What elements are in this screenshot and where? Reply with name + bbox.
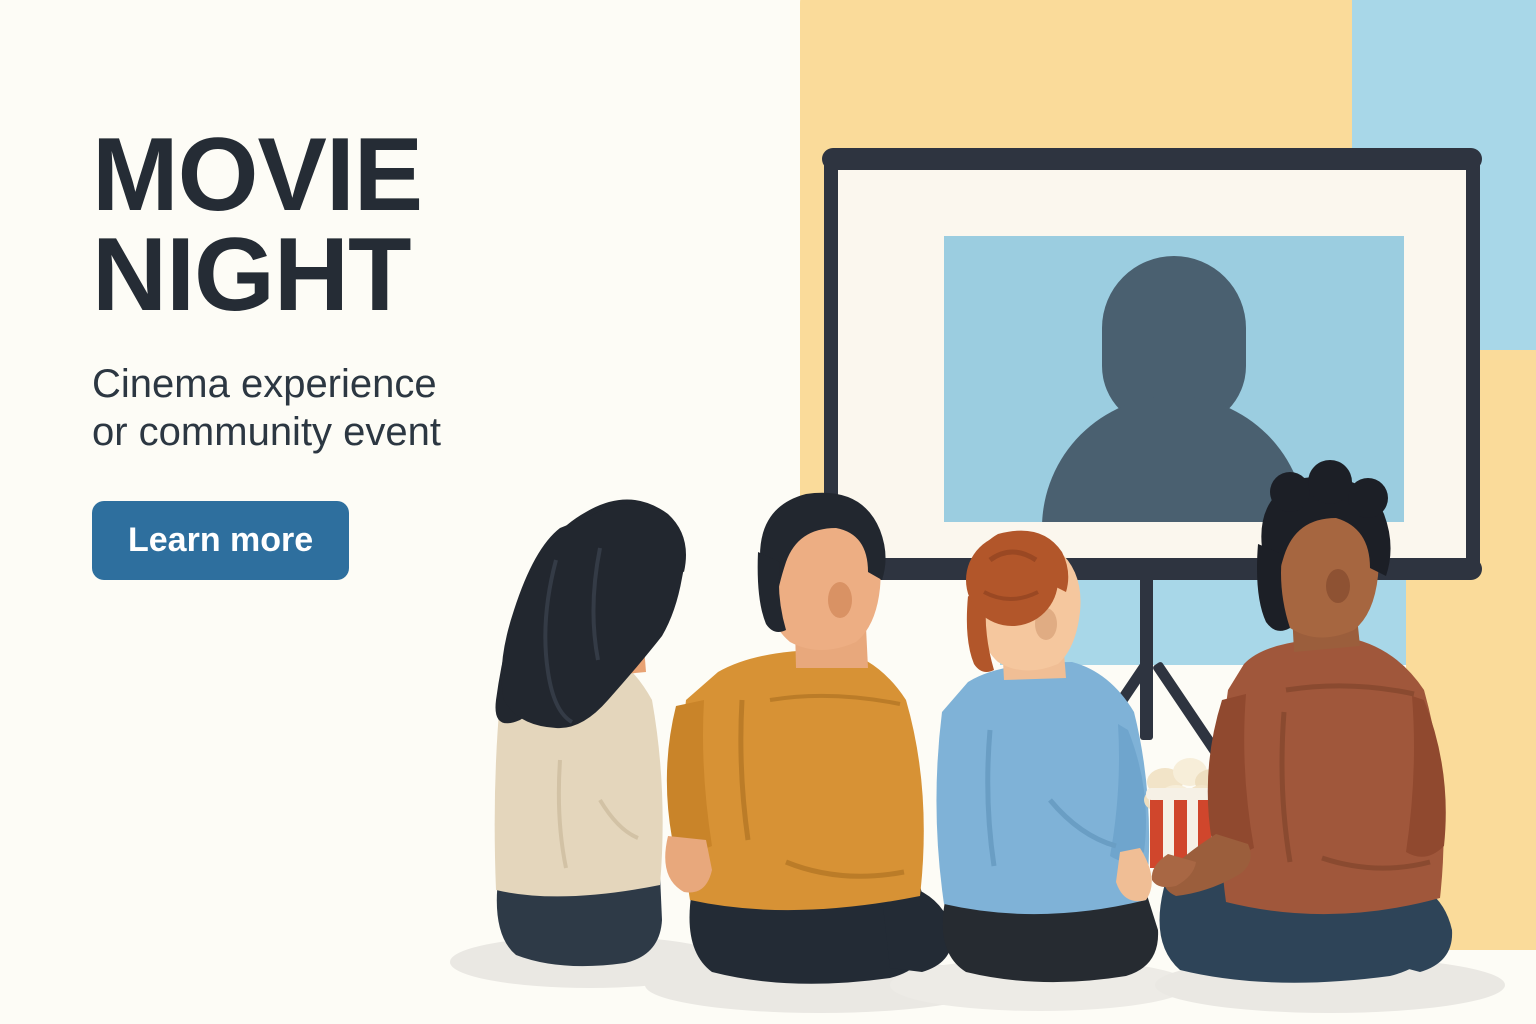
person3-hair-bun [966,534,1058,626]
headline-line-2: NIGHT [92,226,562,326]
person4-ear [1326,569,1350,603]
person4-hair-curl [1308,460,1352,504]
person-woman-red-bun [936,531,1158,983]
person-man-brown-shirt [1152,460,1452,983]
person2-ear [828,582,852,618]
person2-arm [665,836,712,893]
person4-hair-curl [1270,472,1310,512]
hero-banner: MOVIE NIGHT Cinema experience or communi… [0,0,1536,1024]
person4-top [1219,638,1443,914]
page-title: MOVIE NIGHT [92,126,562,326]
headline-line-1: MOVIE [92,126,562,226]
learn-more-button[interactable]: Learn more [92,501,349,580]
subtitle: Cinema experience or community event [92,360,562,458]
text-block: MOVIE NIGHT Cinema experience or communi… [92,126,562,580]
person4-hair-curl [1348,478,1388,518]
popcorn-stripe [1150,794,1163,868]
subtitle-line-2: or community event [92,408,562,457]
person-man-orange-shirt [665,493,952,984]
subtitle-line-1: Cinema experience [92,360,562,409]
person2-top [681,650,924,910]
